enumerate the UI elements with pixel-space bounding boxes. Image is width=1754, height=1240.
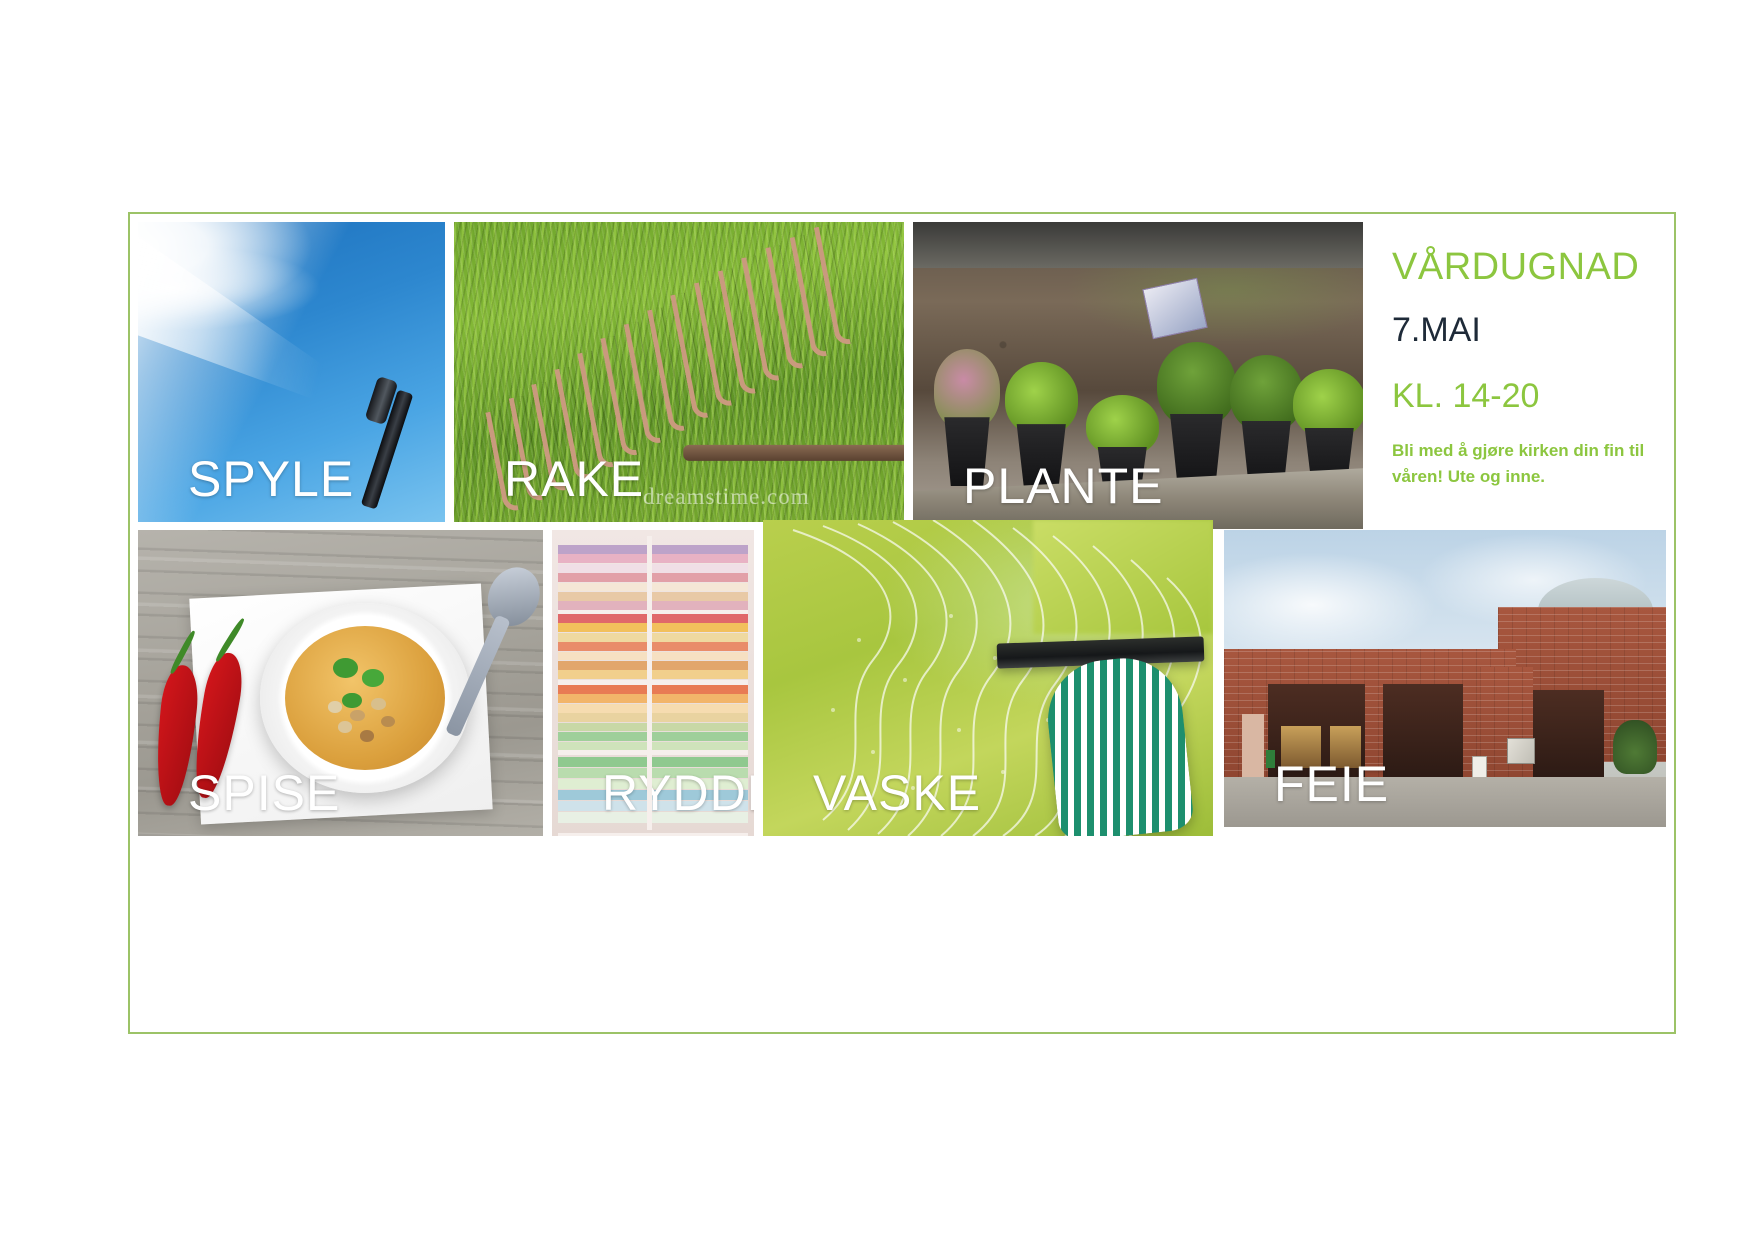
poster-date: 7.MAI: [1392, 310, 1664, 350]
tile-spyle[interactable]: SPYLE: [138, 222, 445, 522]
entrance-opening: [1533, 690, 1604, 779]
shelf-row: [558, 613, 748, 685]
tile-plante[interactable]: PLANTE: [913, 222, 1363, 529]
door: [1242, 714, 1264, 779]
plant-pot-icon: [1237, 369, 1296, 486]
poster-headline: VÅRDUGNAD: [1392, 245, 1664, 290]
water-spray-icon: [138, 228, 365, 426]
tile-label-rake: RAKE: [504, 454, 644, 504]
tile-spise[interactable]: SPISE: [138, 530, 543, 836]
tile-label-spyle: SPYLE: [188, 454, 354, 504]
poster-text-panel: VÅRDUGNAD 7.MAI KL. 14-20 Bli med å gjør…: [1392, 245, 1664, 490]
tile-label-rydde: RYDDE: [602, 768, 754, 818]
tile-rake[interactable]: dreamstime.com RAKE: [454, 222, 904, 522]
poster-page: SPYLE: [0, 0, 1754, 1240]
notice-board: [1507, 738, 1536, 764]
shelf-row: [558, 683, 748, 755]
rake-handle-icon: [683, 445, 904, 461]
tile-label-plante: PLANTE: [963, 461, 1164, 511]
soup: [285, 626, 445, 770]
poster-body-text: Bli med å gjøre kirken din fin til våren…: [1392, 438, 1654, 490]
tile-label-vaske: VASKE: [813, 768, 981, 818]
shrub: [1613, 720, 1657, 773]
brick-column: [1480, 667, 1533, 786]
tile-rydde[interactable]: RYDDE: [552, 530, 754, 836]
tile-feie[interactable]: FEIE: [1224, 530, 1666, 827]
poster-time: KL. 14-20: [1392, 376, 1664, 416]
plant-pot-icon: [1165, 357, 1228, 486]
tile-label-spise: SPISE: [188, 768, 340, 818]
shelf-row: [558, 542, 748, 614]
tile-label-feie: FEIE: [1274, 759, 1389, 809]
tile-vaske[interactable]: VASKE: [763, 520, 1213, 836]
shelf-divider: [647, 536, 652, 830]
entrance-opening: [1383, 684, 1463, 779]
hose-nozzle-icon: [365, 378, 426, 510]
